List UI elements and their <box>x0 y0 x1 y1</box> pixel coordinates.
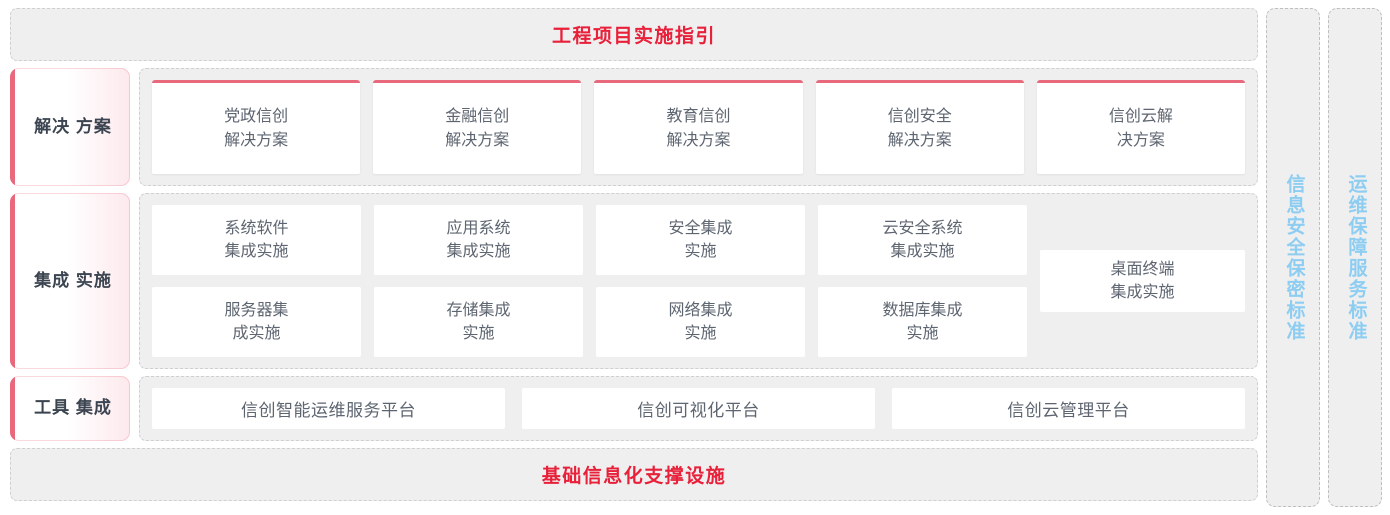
header-band: 工程项目实施指引 <box>10 8 1258 61</box>
integration-card[interactable]: 存储集成 实施 <box>374 287 583 357</box>
row-label-integration-text: 集成 实施 <box>28 270 112 293</box>
tool-card[interactable]: 信创云管理平台 <box>892 388 1245 429</box>
integration-content: 系统软件 集成实施 应用系统 集成实施 安全集成 实施 云安全系统 集成实施 服 <box>152 205 1245 357</box>
diagram-board: 工程项目实施指引 解决 方案 党政信创 解决方案 金融信创 解决方案 教育信创 … <box>0 0 1390 515</box>
integration-card-label: 存储集成 实施 <box>446 299 510 345</box>
tools-card-list: 信创智能运维服务平台 信创可视化平台 信创云管理平台 <box>152 388 1245 429</box>
side-panel-ops-standard-label: 运维保障服务标准 <box>1342 174 1369 342</box>
integration-card-label: 云安全系统 集成实施 <box>882 217 962 263</box>
integration-card-label: 服务器集 成实施 <box>224 299 288 345</box>
integration-card-grid: 系统软件 集成实施 应用系统 集成实施 安全集成 实施 云安全系统 集成实施 服 <box>152 205 1027 357</box>
footer-title: 基础信息化支撑设施 <box>542 461 727 488</box>
row-solution: 解决 方案 党政信创 解决方案 金融信创 解决方案 教育信创 解决方案 信创安全… <box>10 68 1258 186</box>
tool-card[interactable]: 信创可视化平台 <box>522 388 875 429</box>
solution-card-label: 信创云解 决方案 <box>1109 105 1173 151</box>
row-tools: 工具 集成 信创智能运维服务平台 信创可视化平台 信创云管理平台 <box>10 376 1258 441</box>
tool-card[interactable]: 信创智能运维服务平台 <box>152 388 505 429</box>
row-label-solution-text: 解决 方案 <box>28 116 112 139</box>
solution-card-label: 金融信创 解决方案 <box>445 105 509 151</box>
integration-card-label: 安全集成 实施 <box>668 217 732 263</box>
row-label-tools-text: 工具 集成 <box>28 397 112 420</box>
integration-card-desktop-terminal[interactable]: 桌面终端 集成实施 <box>1040 250 1245 312</box>
footer-band: 基础信息化支撑设施 <box>10 448 1258 501</box>
tool-card-label: 信创可视化平台 <box>637 396 760 421</box>
row-integration: 集成 实施 系统软件 集成实施 应用系统 集成实施 安全集成 实施 <box>10 193 1258 369</box>
integration-card[interactable]: 网络集成 实施 <box>596 287 805 357</box>
integration-card[interactable]: 系统软件 集成实施 <box>152 205 361 275</box>
row-body-solution: 党政信创 解决方案 金融信创 解决方案 教育信创 解决方案 信创安全 解决方案 … <box>139 68 1258 186</box>
page-title: 工程项目实施指引 <box>552 21 716 48</box>
solution-card[interactable]: 教育信创 解决方案 <box>594 80 802 174</box>
solution-card-label: 党政信创 解决方案 <box>224 105 288 151</box>
integration-card-label: 数据库集成 实施 <box>882 299 962 345</box>
integration-card-desktop-terminal-label: 桌面终端 集成实施 <box>1110 258 1174 304</box>
side-panel-security-standard[interactable]: 信息安全保密标准 <box>1266 8 1320 507</box>
main-column: 工程项目实施指引 解决 方案 党政信创 解决方案 金融信创 解决方案 教育信创 … <box>10 8 1258 507</box>
solution-card[interactable]: 党政信创 解决方案 <box>152 80 360 174</box>
solution-card-list: 党政信创 解决方案 金融信创 解决方案 教育信创 解决方案 信创安全 解决方案 … <box>152 80 1245 174</box>
integration-card[interactable]: 云安全系统 集成实施 <box>818 205 1027 275</box>
row-label-integration[interactable]: 集成 实施 <box>10 193 130 369</box>
row-body-tools: 信创智能运维服务平台 信创可视化平台 信创云管理平台 <box>139 376 1258 441</box>
solution-card[interactable]: 信创云解 决方案 <box>1037 80 1245 174</box>
integration-card-label: 应用系统 集成实施 <box>446 217 510 263</box>
row-label-tools[interactable]: 工具 集成 <box>10 376 130 441</box>
solution-card[interactable]: 信创安全 解决方案 <box>816 80 1024 174</box>
side-panel-security-standard-label: 信息安全保密标准 <box>1280 174 1307 342</box>
row-label-solution[interactable]: 解决 方案 <box>10 68 130 186</box>
integration-side-column: 桌面终端 集成实施 <box>1040 205 1245 357</box>
solution-card[interactable]: 金融信创 解决方案 <box>373 80 581 174</box>
integration-card[interactable]: 安全集成 实施 <box>596 205 805 275</box>
tool-card-label: 信创智能运维服务平台 <box>241 396 416 421</box>
integration-card[interactable]: 应用系统 集成实施 <box>374 205 583 275</box>
solution-card-label: 教育信创 解决方案 <box>667 105 731 151</box>
integration-card-label: 系统软件 集成实施 <box>224 217 288 263</box>
integration-card-label: 网络集成 实施 <box>668 299 732 345</box>
side-panel-ops-standard[interactable]: 运维保障服务标准 <box>1328 8 1382 507</box>
tool-card-label: 信创云管理平台 <box>1007 396 1130 421</box>
integration-card[interactable]: 数据库集成 实施 <box>818 287 1027 357</box>
solution-card-label: 信创安全 解决方案 <box>888 105 952 151</box>
row-body-integration: 系统软件 集成实施 应用系统 集成实施 安全集成 实施 云安全系统 集成实施 服 <box>139 193 1258 369</box>
integration-card[interactable]: 服务器集 成实施 <box>152 287 361 357</box>
